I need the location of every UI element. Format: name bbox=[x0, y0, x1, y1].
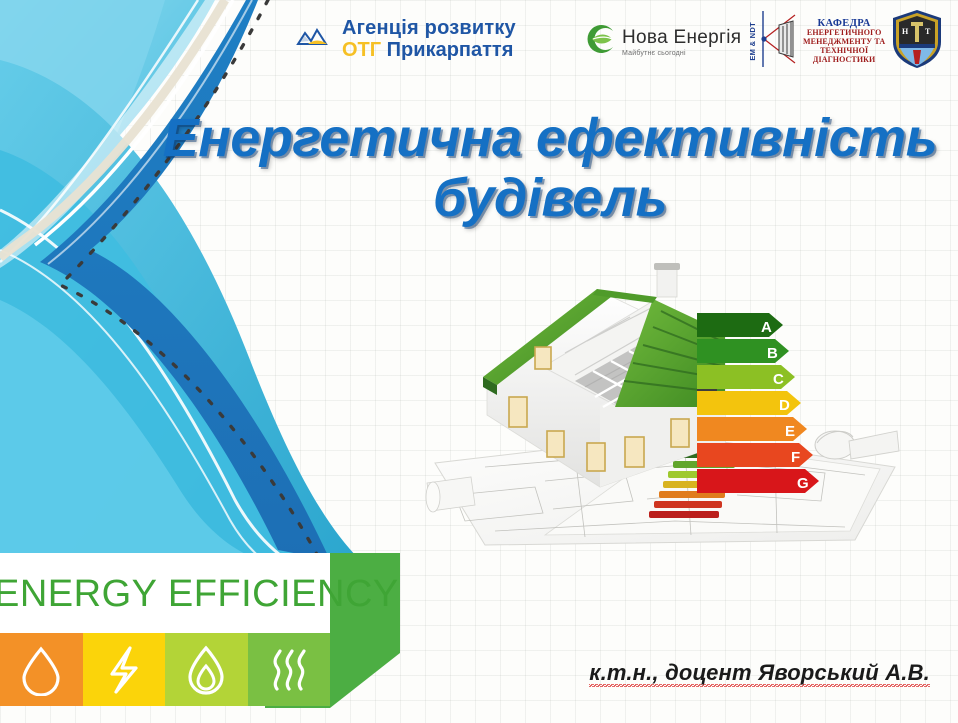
rating-row: F bbox=[697, 443, 813, 467]
mountain-icon bbox=[296, 24, 338, 55]
university-crest-icon: Н Т bbox=[889, 8, 945, 75]
nova-energia-tagline: Майбутнє сьогодні bbox=[622, 50, 741, 57]
agency-logo-line1: Агенція розвитку bbox=[342, 18, 516, 40]
tile-water[interactable] bbox=[0, 633, 83, 706]
rating-row: E bbox=[697, 417, 807, 441]
slide-title: Енергетична ефективність будівель bbox=[150, 108, 950, 229]
agency-logo-line2: Прикарпаття bbox=[381, 39, 513, 61]
leaf-circle-icon bbox=[584, 22, 618, 61]
svg-text:Н: Н bbox=[902, 27, 909, 36]
slide-title-line2: будівель bbox=[150, 168, 950, 228]
svg-text:F: F bbox=[791, 449, 800, 466]
department-line5: ДІАГНОСТИКИ bbox=[803, 56, 885, 65]
tile-heat[interactable] bbox=[248, 633, 331, 706]
tile-electricity[interactable] bbox=[83, 633, 166, 706]
nova-energia-logo[interactable]: Нова Енергія Майбутнє сьогодні bbox=[584, 22, 741, 61]
lightning-bolt-icon bbox=[102, 644, 146, 696]
logo-bar: Агенція розвитку ОТГ Прикарпаття Нова Ен… bbox=[0, 0, 958, 82]
department-logo[interactable]: EM & NDT КАФЕДРА ЕНЕРГЕТИЧНОГО МЕН bbox=[748, 8, 945, 75]
rating-row: G bbox=[697, 469, 819, 493]
heat-waves-icon bbox=[264, 645, 314, 695]
flame-icon bbox=[183, 644, 229, 696]
presentation-slide: Агенція розвитку ОТГ Прикарпаття Нова Ен… bbox=[0, 0, 958, 723]
svg-text:A: A bbox=[761, 319, 772, 336]
ndt-beam-icon bbox=[759, 9, 799, 74]
rating-row: C bbox=[697, 365, 795, 389]
blue-wave-decoration bbox=[0, 0, 470, 600]
energy-efficient-house-photo: A B C D E F G bbox=[425, 255, 903, 555]
energy-efficiency-badge: ENERGY EFFICIENCY bbox=[0, 553, 400, 708]
author-text: к.т.н., доцент Яворський А.В. bbox=[589, 660, 930, 687]
svg-text:B: B bbox=[767, 345, 778, 362]
agency-logo-otg: ОТГ bbox=[342, 39, 381, 61]
tile-gas[interactable] bbox=[165, 633, 248, 706]
energy-efficiency-tiles bbox=[0, 633, 330, 706]
svg-text:D: D bbox=[779, 397, 790, 414]
slide-title-line1: Енергетична ефективність bbox=[150, 108, 950, 168]
svg-text:G: G bbox=[797, 475, 809, 492]
svg-text:Т: Т bbox=[925, 27, 931, 36]
rating-row: A bbox=[697, 313, 783, 337]
svg-text:C: C bbox=[773, 371, 784, 388]
energy-efficiency-heading: ENERGY EFFICIENCY bbox=[0, 573, 334, 616]
rating-row: B bbox=[697, 339, 789, 363]
rolled-blueprint bbox=[815, 431, 899, 459]
water-drop-icon bbox=[18, 644, 64, 696]
agency-logo[interactable]: Агенція розвитку ОТГ Прикарпаття bbox=[296, 18, 516, 61]
em-ndt-label: EM & NDT bbox=[748, 22, 757, 61]
svg-text:E: E bbox=[785, 423, 795, 440]
nova-energia-title: Нова Енергія bbox=[622, 27, 741, 49]
rating-row: D bbox=[697, 391, 801, 415]
author-credit: к.т.н., доцент Яворський А.В. bbox=[589, 660, 930, 686]
